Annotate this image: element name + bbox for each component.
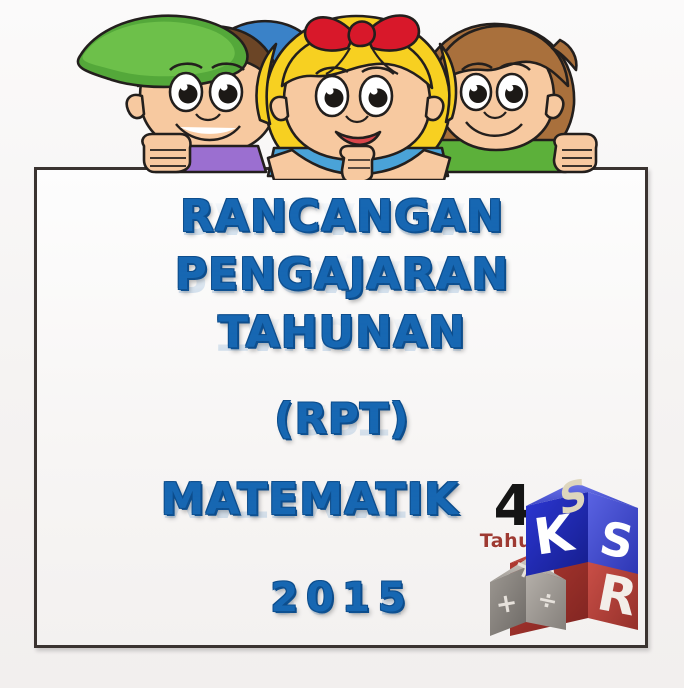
kssr-blocks-illustration: S R × + ÷ K S S	[488, 470, 658, 645]
block-blue: K S S	[526, 470, 638, 576]
children-illustration	[60, 0, 640, 180]
block-blue-top-letter: S	[559, 470, 588, 526]
hand-right	[554, 134, 597, 172]
title-abbreviation: (RPT)	[0, 398, 684, 440]
abbreviation-block: (RPT)	[0, 398, 684, 440]
poster-canvas: RANCANGAN PENGAJARAN TAHUNAN (RPT) MATEM…	[0, 0, 684, 688]
hand-left	[142, 134, 190, 172]
